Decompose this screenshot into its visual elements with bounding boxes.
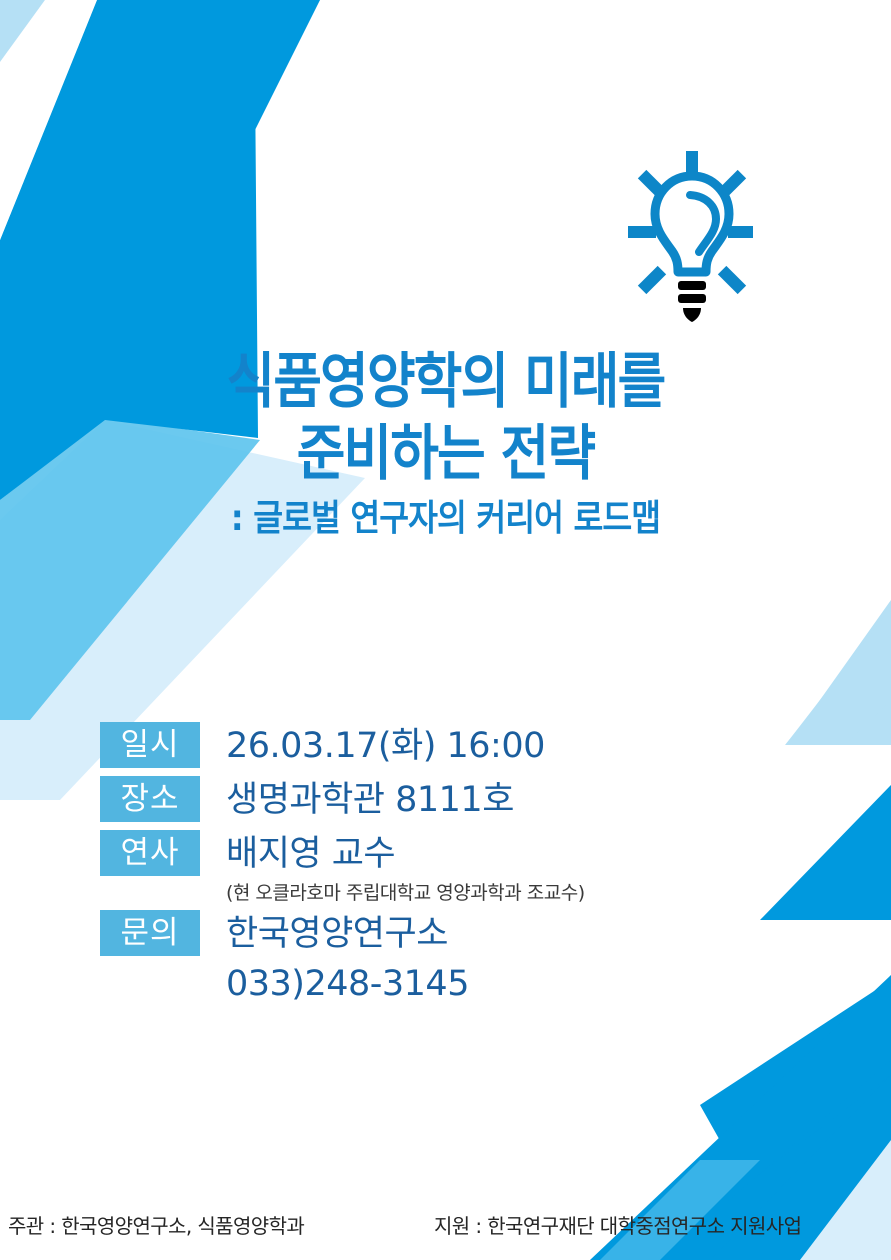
info-value-contact-wrap: 한국영양연구소 033)248-3145 <box>200 910 800 1008</box>
info-value-contact-org: 한국영양연구소 <box>226 910 800 958</box>
badge-contact: 문의 <box>100 910 200 956</box>
info-row-contact: 문의 한국영양연구소 033)248-3145 <box>100 910 800 1008</box>
seminar-poster: 식품영양학의 미래를 준비하는 전략 : 글로벌 연구자의 커리어 로드맵 일시… <box>0 0 891 1260</box>
info-subtext-speaker-affiliation: (현 오클라호마 주립대학교 영양과학과 조교수) <box>226 878 800 908</box>
info-row-speaker: 연사 배지영 교수 (현 오클라호마 주립대학교 영양과학과 조교수) <box>100 830 800 908</box>
footer: 주관 : 한국영양연구소, 식품영양학과 지원 : 한국연구재단 대학중점연구소… <box>0 1212 891 1256</box>
title-subtitle: : 글로벌 연구자의 커리어 로드맵 <box>45 496 847 542</box>
info-value-datetime-wrap: 26.03.17(화) 16:00 <box>200 722 800 770</box>
lightbulb-base-tip <box>683 308 701 322</box>
stripe-right-light-band <box>785 613 891 745</box>
info-value-speaker-wrap: 배지영 교수 (현 오클라호마 주립대학교 영양과학과 조교수) <box>200 830 800 908</box>
lightbulb-ray-left <box>628 226 656 238</box>
lightbulb-ray-lower-left <box>638 266 666 294</box>
lightbulb-ray-lower-right <box>718 266 746 294</box>
badge-datetime: 일시 <box>100 722 200 768</box>
lightbulb-icon-wrap <box>628 148 753 323</box>
info-value-speaker: 배지영 교수 <box>226 830 800 878</box>
footer-funding-text: 지원 : 한국연구재단 대학중점연구소 지원사업 <box>434 1212 801 1240</box>
lightbulb-base-bar-2 <box>678 294 706 303</box>
lightbulb-icon <box>628 148 753 323</box>
info-row-venue: 장소 생명과학관 8111호 <box>100 776 800 824</box>
badge-venue: 장소 <box>100 776 200 822</box>
footer-host-text: 주관 : 한국영양연구소, 식품영양학과 <box>8 1212 304 1240</box>
lightbulb-ray-right <box>728 226 753 238</box>
stripe-topleft-light2 <box>0 0 150 215</box>
stripe-right-light-upper <box>788 600 891 745</box>
info-list: 일시 26.03.17(화) 16:00 장소 생명과학관 8111호 연사 배… <box>100 722 800 1014</box>
lightbulb-base-bar-1 <box>678 281 706 290</box>
info-value-contact-phone: 033)248-3145 <box>226 960 800 1008</box>
stripe-right-light-band2 <box>786 608 891 745</box>
info-value-venue-wrap: 생명과학관 8111호 <box>200 776 800 824</box>
decorative-diagonal-stripes <box>0 0 891 1260</box>
info-row-datetime: 일시 26.03.17(화) 16:00 <box>100 722 800 770</box>
title-line-2: 준비하는 전략 <box>53 418 837 490</box>
title-line-1: 식품영양학의 미래를 <box>53 346 837 418</box>
stripe-topleft-light <box>0 0 45 62</box>
info-value-datetime: 26.03.17(화) 16:00 <box>226 722 800 770</box>
badge-speaker: 연사 <box>100 830 200 876</box>
info-value-venue: 생명과학관 8111호 <box>226 776 800 824</box>
stripe-topleft-whitegap <box>0 0 97 240</box>
title-block: 식품영양학의 미래를 준비하는 전략 : 글로벌 연구자의 커리어 로드맵 <box>0 346 891 542</box>
